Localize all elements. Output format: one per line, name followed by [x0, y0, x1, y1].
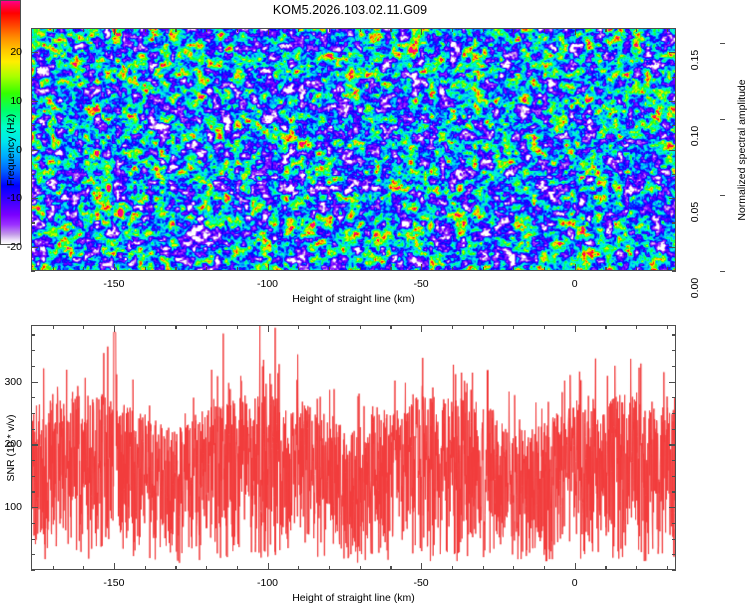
spectrogram-xtick-minor — [298, 267, 299, 271]
snr-ytick-right — [672, 491, 676, 492]
spectrogram-yticklabel: -10 — [0, 192, 22, 204]
snr-ytick — [31, 397, 35, 398]
snr-xticklabel: 0 — [572, 577, 578, 589]
snr-xtick-minor — [636, 566, 637, 570]
snr-xtick-minor — [421, 563, 422, 570]
snr-xtick-minor — [390, 566, 391, 570]
snr-xtick-minor — [53, 566, 54, 570]
snr-xtick-minor — [513, 566, 514, 570]
snr-xtick-minor — [206, 566, 207, 570]
spectrogram-ytick — [31, 125, 35, 126]
snr-ytick-right — [672, 397, 676, 398]
snr-ytick — [31, 523, 35, 524]
snr-xtick-minor-top — [175, 325, 176, 329]
spectrogram-xtick-minor-top — [175, 28, 176, 32]
spectrogram-ytick-right — [669, 150, 676, 151]
spectrogram-xtick-minor — [53, 267, 54, 271]
snr-xtick-minor — [575, 563, 576, 570]
snr-xtick-minor-top — [53, 325, 54, 329]
spectrogram-ytick-right — [672, 125, 676, 126]
spectrogram-xtick-minor-top — [667, 28, 668, 32]
colorbar-tick — [720, 119, 725, 120]
spectrogram-xtick-minor — [575, 264, 576, 271]
spectrogram-ytick — [31, 52, 38, 53]
snr-xtick-minor — [605, 566, 606, 570]
snr-ytick — [31, 491, 35, 492]
snr-xtick-minor-top — [237, 325, 238, 329]
snr-ytick-right — [672, 523, 676, 524]
colorbar-tick — [720, 43, 725, 44]
spectrogram-xtick-minor-top — [452, 28, 453, 32]
spectrogram-xtick-minor-top — [298, 28, 299, 32]
snr-xtick-minor — [114, 563, 115, 570]
snr-yaxis-title: SNR (10 * v/v) — [5, 414, 17, 481]
snr-xtick-minor-top — [483, 325, 484, 329]
spectrogram-xtick-minor-top — [268, 28, 269, 35]
snr-ytick-right — [669, 382, 676, 383]
spectrogram-ytick-right — [669, 198, 676, 199]
snr-xtick-minor — [360, 566, 361, 570]
snr-xtick-minor-top — [452, 325, 453, 329]
snr-ytick — [31, 507, 38, 508]
spectrogram-xtick-minor — [360, 267, 361, 271]
colorbar-ticklabel: 0.10 — [689, 119, 701, 153]
spectrogram-yticklabel: 10 — [0, 95, 22, 107]
spectrogram-ytick-right — [669, 52, 676, 53]
snr-xtick-minor — [175, 566, 176, 570]
snr-xtick-minor-top — [544, 325, 545, 329]
snr-ytick — [31, 366, 35, 367]
snr-ytick — [31, 476, 35, 477]
spectrogram-xtick-minor — [513, 267, 514, 271]
spectrogram-xtick-minor-top — [83, 28, 84, 32]
spectrogram-yaxis-title: Frequency (Hz) — [5, 113, 17, 185]
snr-xtick-minor — [329, 566, 330, 570]
snr-ytick-right — [672, 539, 676, 540]
spectrogram-ytick — [31, 271, 35, 272]
spectrogram-xtick-minor-top — [360, 28, 361, 32]
snr-ytick-right — [672, 334, 676, 335]
snr-xtick-minor — [237, 566, 238, 570]
snr-xtick-minor — [298, 566, 299, 570]
spectrogram-ytick — [31, 101, 38, 102]
snr-xtick-minor-top — [298, 325, 299, 329]
spectrogram-xticklabel: 0 — [572, 278, 578, 290]
spectrogram-xtick-minor-top — [206, 28, 207, 32]
snr-yticklabel: 100 — [0, 501, 22, 513]
spectrogram-xtick-minor-top — [483, 28, 484, 32]
snr-xtick-minor-top — [329, 325, 330, 329]
snr-xtick-minor — [145, 566, 146, 570]
spectrogram-ytick — [31, 174, 35, 175]
snr-ytick-right — [669, 507, 676, 508]
snr-xtick-minor — [544, 566, 545, 570]
spectrogram-xtick-minor — [114, 264, 115, 271]
snr-xtick-minor-top — [114, 325, 115, 332]
colorbar-tick — [720, 271, 725, 272]
snr-xtick-minor-top — [83, 325, 84, 329]
snr-xtick-minor-top — [421, 325, 422, 332]
spectrogram-yticklabel: 20 — [0, 46, 22, 58]
colorbar-ticklabel: 0.15 — [689, 43, 701, 77]
snr-ytick-right — [672, 554, 676, 555]
spectrogram-xtick-minor — [421, 264, 422, 271]
spectrogram-xtick-minor-top — [513, 28, 514, 32]
spectrogram-xtick-minor-top — [114, 28, 115, 35]
snr-ytick — [31, 334, 35, 335]
colorbar-title: Normalized spectral amplitude — [736, 79, 748, 220]
spectrogram-xtick-minor — [544, 267, 545, 271]
spectrogram-xtick-minor-top — [329, 28, 330, 32]
snr-xtick-minor — [667, 566, 668, 570]
spectrogram-ytick — [31, 198, 38, 199]
spectrogram-xtick-minor-top — [53, 28, 54, 32]
spectrogram-ytick-right — [672, 77, 676, 78]
snr-xticklabel: -50 — [413, 577, 428, 589]
snr-xtick-minor-top — [667, 325, 668, 329]
snr-ytick-right — [672, 366, 676, 367]
spectrogram-xtick-minor-top — [421, 28, 422, 35]
spectrogram-xtick-minor — [636, 267, 637, 271]
snr-plot-area — [31, 325, 676, 570]
snr-ytick-right — [672, 460, 676, 461]
snr-ytick — [31, 554, 35, 555]
snr-xtick-minor — [83, 566, 84, 570]
spectrogram-yticklabel: -20 — [0, 241, 22, 253]
snr-xtick-minor-top — [605, 325, 606, 329]
snr-ytick-right — [672, 350, 676, 351]
snr-xtick-minor-top — [360, 325, 361, 329]
spectrogram-ytick-right — [669, 101, 676, 102]
snr-xtick-minor — [452, 566, 453, 570]
spectrogram-xtick-minor — [175, 267, 176, 271]
spectrogram-xtick-minor — [206, 267, 207, 271]
spectrogram-xtick-minor-top — [390, 28, 391, 32]
spectrogram-xtick-minor — [483, 267, 484, 271]
snr-xtick-minor-top — [575, 325, 576, 332]
snr-ytick-right — [672, 429, 676, 430]
snr-ytick — [31, 444, 38, 445]
spectrogram-ytick-right — [672, 174, 676, 175]
spectrogram-xtick-minor-top — [605, 28, 606, 32]
spectrogram-xtick-minor-top — [237, 28, 238, 32]
snr-xtick-minor-top — [513, 325, 514, 329]
spectrogram-ytick-right — [672, 222, 676, 223]
spectrogram-ytick — [31, 28, 35, 29]
spectrogram-ytick — [31, 222, 35, 223]
snr-ytick-right — [672, 476, 676, 477]
page-title: KOM5.2026.103.02.11.G09 — [0, 3, 700, 17]
spectrogram-xticklabel: -50 — [413, 278, 428, 290]
spectrogram-xtick-minor — [83, 267, 84, 271]
snr-xtick-minor-top — [206, 325, 207, 329]
snr-xtick-minor — [268, 563, 269, 570]
snr-xtick-minor-top — [636, 325, 637, 329]
snr-xticklabel: -100 — [257, 577, 278, 589]
spectrogram-xtick-minor — [390, 267, 391, 271]
snr-xtick-minor-top — [145, 325, 146, 329]
spectrogram-plot-area — [31, 28, 676, 271]
snr-xtick-minor — [483, 566, 484, 570]
figure-canvas: KOM5.2026.103.02.11.G09 -150-100-500-20-… — [0, 0, 750, 600]
spectrogram-xtick-minor-top — [575, 28, 576, 35]
colorbar-tick — [720, 195, 725, 196]
snr-ytick-right — [672, 413, 676, 414]
spectrogram-xtick-minor-top — [544, 28, 545, 32]
spectrogram-ytick-right — [672, 271, 676, 272]
spectrogram-xtick-minor — [452, 267, 453, 271]
snr-xaxis-title: Height of straight line (km) — [292, 592, 415, 604]
colorbar-ticklabel: 0.05 — [689, 195, 701, 229]
colorbar-ticklabel: 0.00 — [689, 271, 701, 305]
snr-ytick — [31, 382, 38, 383]
spectrogram-xticklabel: -150 — [103, 278, 124, 290]
snr-xtick-minor-top — [268, 325, 269, 332]
snr-xtick-minor-top — [390, 325, 391, 329]
spectrogram-xtick-minor — [605, 267, 606, 271]
snr-yticklabel: 300 — [0, 376, 22, 388]
spectrogram-xaxis-title: Height of straight line (km) — [292, 293, 415, 305]
spectrogram-xticklabel: -100 — [257, 278, 278, 290]
spectrogram-xtick-minor-top — [145, 28, 146, 32]
snr-ytick — [31, 539, 35, 540]
snr-xticklabel: -150 — [103, 577, 124, 589]
snr-ytick — [31, 413, 35, 414]
snr-ytick — [31, 350, 35, 351]
spectrogram-xtick-minor — [268, 264, 269, 271]
spectrogram-xtick-minor-top — [636, 28, 637, 32]
snr-trace-line — [32, 326, 675, 569]
snr-ytick-right — [669, 444, 676, 445]
spectrogram-xtick-minor — [667, 267, 668, 271]
snr-ytick — [31, 429, 35, 430]
snr-ytick — [31, 570, 35, 571]
spectrogram-ytick — [31, 77, 35, 78]
spectrogram-ytick — [31, 247, 38, 248]
spectrogram-xtick-minor — [237, 267, 238, 271]
spectrogram-xtick-minor — [145, 267, 146, 271]
snr-ytick — [31, 460, 35, 461]
snr-ytick-right — [672, 570, 676, 571]
spectrogram-ytick-right — [672, 28, 676, 29]
spectrogram-ytick — [31, 150, 38, 151]
spectrogram-image — [32, 29, 675, 270]
spectrogram-xtick-minor — [329, 267, 330, 271]
spectrogram-ytick-right — [669, 247, 676, 248]
